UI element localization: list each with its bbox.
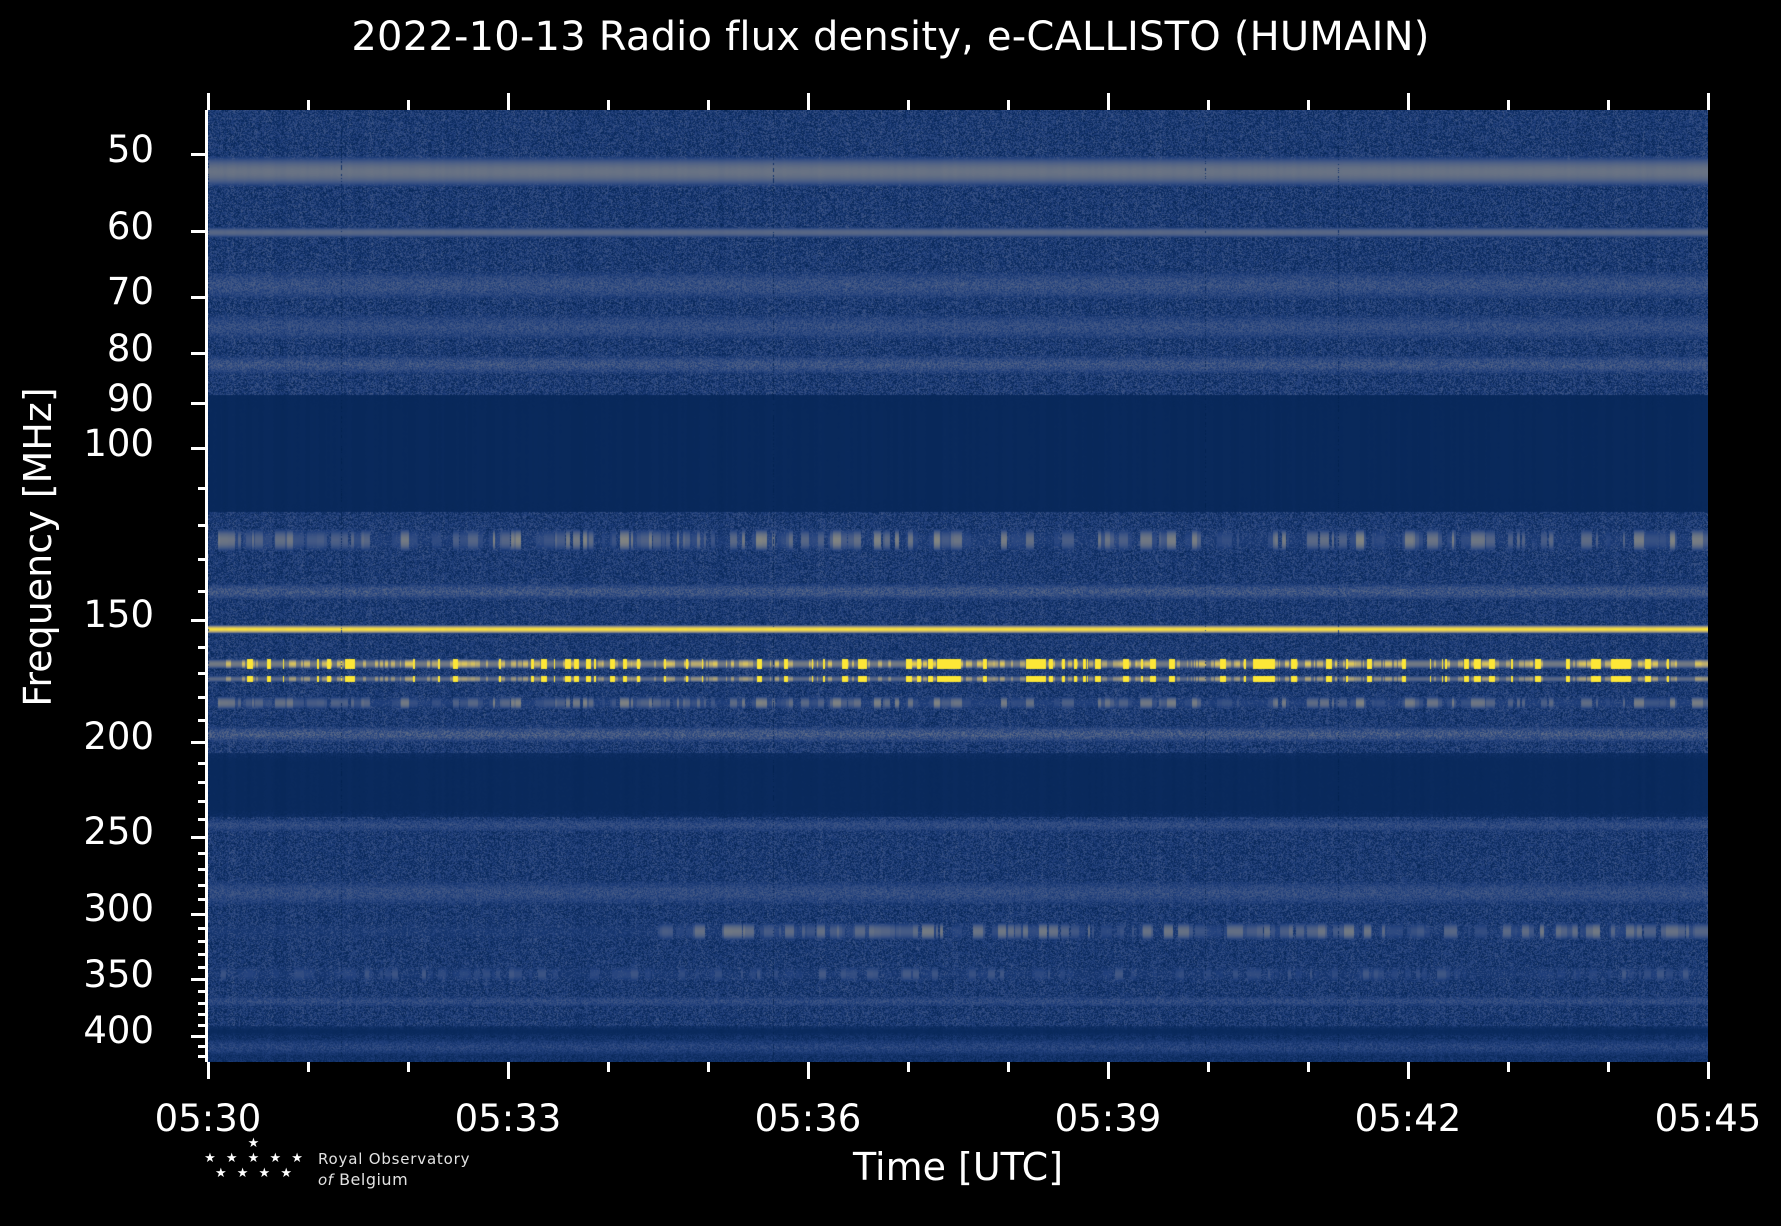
x-tick-mark [207, 1062, 210, 1079]
x-minor-tick-mark-top [1307, 100, 1310, 110]
x-tick-mark-top [1107, 93, 1110, 110]
x-minor-tick-mark-top [1207, 100, 1210, 110]
x-tick-label: 05:39 [978, 1100, 1238, 1137]
page-title: 2022-10-13 Radio flux density, e-CALLIST… [0, 14, 1781, 60]
spectrogram-image [208, 110, 1708, 1062]
x-tick-mark [1407, 1062, 1410, 1079]
logo-of-word: of [318, 1171, 333, 1189]
x-minor-tick-mark [907, 1062, 910, 1072]
x-tick-label: 05:42 [1278, 1100, 1538, 1137]
x-tick-mark-top [1407, 93, 1410, 110]
x-minor-tick-mark [407, 1062, 410, 1072]
y-axis-spine [205, 110, 208, 1062]
y-tick-label: 50 [0, 131, 178, 168]
x-minor-tick-mark-top [407, 100, 410, 110]
x-minor-tick-mark [707, 1062, 710, 1072]
x-minor-tick-mark [607, 1062, 610, 1072]
x-minor-tick-mark-top [907, 100, 910, 110]
logo-line-1: Royal Observatory [318, 1150, 470, 1168]
x-tick-mark-top [1707, 93, 1710, 110]
x-minor-tick-mark [1007, 1062, 1010, 1072]
x-tick-mark-top [807, 93, 810, 110]
logo-text: Royal Observatory of Belgium [318, 1150, 470, 1189]
x-tick-label: 05:33 [378, 1100, 638, 1137]
logo-stars-row-3: ★ ★ ★ ★ [200, 1166, 310, 1181]
y-tick-label: 350 [0, 956, 178, 993]
x-minor-tick-mark [1207, 1062, 1210, 1072]
y-axis-label: Frequency [MHz] [16, 247, 60, 847]
x-minor-tick-mark-top [707, 100, 710, 110]
x-minor-tick-mark [307, 1062, 310, 1072]
x-tick-label: 05:30 [78, 1100, 338, 1137]
x-tick-mark-top [507, 93, 510, 110]
x-tick-mark-top [207, 93, 210, 110]
logo-stars-row-1: ★ [200, 1136, 310, 1151]
x-minor-tick-mark-top [1507, 100, 1510, 110]
x-minor-tick-mark-top [1007, 100, 1010, 110]
x-minor-tick-mark [1607, 1062, 1610, 1072]
y-tick-label: 300 [0, 890, 178, 927]
x-minor-tick-mark-top [1607, 100, 1610, 110]
x-minor-tick-mark-top [307, 100, 310, 110]
x-minor-tick-mark [1307, 1062, 1310, 1072]
x-tick-mark [507, 1062, 510, 1079]
y-tick-label: 60 [0, 208, 178, 245]
royal-observatory-logo: ★ ★ ★ ★ ★ ★ ★ ★ ★ ★ Royal Observatory of… [200, 1136, 620, 1206]
logo-stars-icon: ★ ★ ★ ★ ★ ★ ★ ★ ★ ★ [200, 1136, 310, 1198]
spectrogram-plot-area [208, 110, 1708, 1062]
logo-stars-row-2: ★ ★ ★ ★ ★ [200, 1151, 310, 1166]
logo-country: Belgium [339, 1170, 408, 1189]
x-minor-tick-mark-top [607, 100, 610, 110]
y-tick-label: 400 [0, 1012, 178, 1049]
x-tick-mark [807, 1062, 810, 1079]
x-minor-tick-mark [1507, 1062, 1510, 1072]
x-tick-label: 05:36 [678, 1100, 938, 1137]
x-tick-mark [1707, 1062, 1710, 1079]
x-tick-label: 05:45 [1578, 1100, 1781, 1137]
y-axis-label-text: Frequency [MHz] [16, 387, 60, 706]
x-tick-mark [1107, 1062, 1110, 1079]
logo-line-2: of Belgium [318, 1170, 470, 1189]
